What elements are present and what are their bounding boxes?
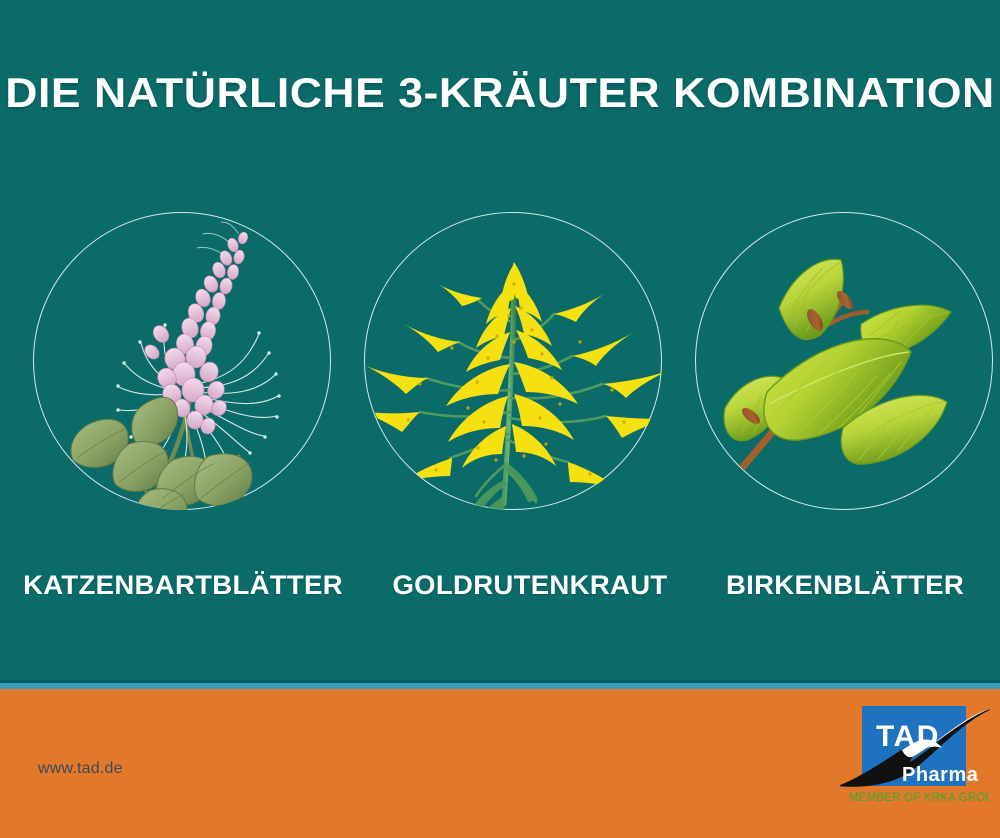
herb-label-goldrutenkraut: GOLDRUTENKRAUT: [362, 568, 699, 602]
herb-circles-row: [0, 212, 1000, 514]
page-title: DIE NATÜRLICHE 3-KRÄUTER KOMBINATION: [0, 68, 1000, 118]
logo-brand-top: TAD: [876, 720, 940, 753]
goldenrod-plant-illustration: [364, 212, 664, 512]
herb-circle-goldrutenkraut: [364, 212, 664, 512]
website-url[interactable]: www.tad.de: [38, 760, 123, 778]
herb-circle-katzenbartblaetter: [33, 212, 333, 512]
herb-circle-birkenblaetter: [695, 212, 995, 512]
logo-tagline: MEMBER OF KRKA GROUP: [849, 792, 990, 804]
tad-pharma-logo[interactable]: TAD Pharma MEMBER OF KRKA GROUP: [840, 700, 990, 808]
logo-brand-bottom: Pharma: [902, 764, 979, 786]
herb-label-birkenblaetter: BIRKENBLÄTTER: [677, 568, 1000, 602]
herb-labels-row: KATZENBARTBLÄTTER GOLDRUTENKRAUT BIRKENB…: [0, 568, 1000, 604]
cats-whiskers-plant-illustration: [33, 212, 333, 512]
infographic-canvas: DIE NATÜRLICHE 3-KRÄUTER KOMBINATION: [0, 0, 1000, 838]
herb-label-katzenbartblaetter: KATZENBARTBLÄTTER: [15, 568, 352, 602]
birch-leaves-illustration: [695, 212, 995, 512]
